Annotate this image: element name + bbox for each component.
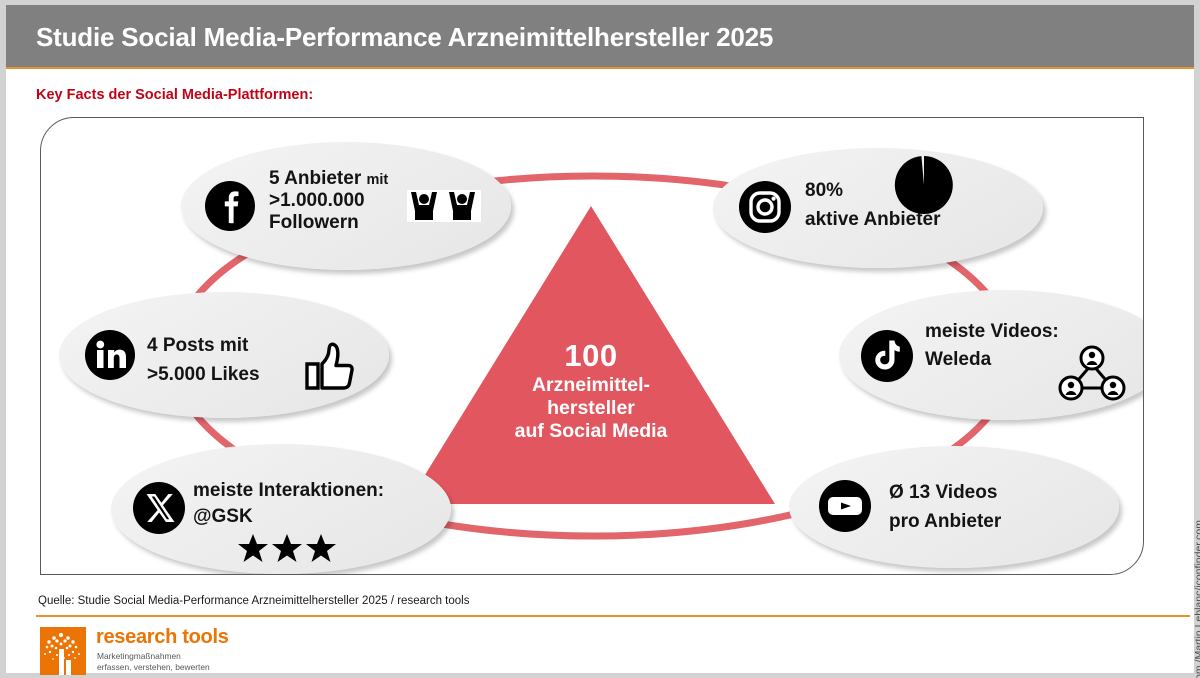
- source-line: Quelle: Studie Social Media-Performance …: [38, 595, 469, 607]
- linkedin-line-2: >5.000 Likes: [147, 361, 260, 390]
- logo-tagline-1: Marketingmaßnahmen: [97, 651, 181, 661]
- bubble-x[interactable]: meiste Interaktionen: @GSK: [111, 444, 451, 574]
- section-subtitle: Key Facts der Social Media-Plattformen:: [36, 87, 313, 103]
- tiktok-line-2: Weleda: [925, 346, 1059, 374]
- bubble-youtube-text: Ø 13 Videos pro Anbieter: [889, 479, 1001, 536]
- image-credit: ©rawpixel.com auf freepik.com /Martin Le…: [1193, 520, 1200, 678]
- bubble-linkedin-text: 4 Posts mit >5.000 Likes: [147, 332, 260, 389]
- bubble-x-text: meiste Interaktionen: @GSK: [193, 478, 384, 530]
- tiktok-line-1: meiste Videos:: [925, 318, 1059, 346]
- thumbs-up-icon: [303, 340, 357, 397]
- youtube-line-1: Ø 13 Videos: [889, 479, 1001, 508]
- youtube-line-2: pro Anbieter: [889, 508, 1001, 537]
- linkedin-line-1: 4 Posts mit: [147, 332, 260, 361]
- bubble-youtube[interactable]: Ø 13 Videos pro Anbieter: [789, 446, 1119, 568]
- linkedin-icon: [85, 330, 135, 385]
- instagram-icon: [739, 181, 791, 238]
- bubble-linkedin[interactable]: 4 Posts mit >5.000 Likes: [59, 292, 389, 418]
- tree-logo-icon: [40, 627, 86, 675]
- x-line-1: meiste Interaktionen:: [193, 478, 384, 504]
- footer-divider: [36, 615, 1190, 617]
- logo-wordmark: research tools: [96, 626, 229, 649]
- diagram-frame: 100 Arzneimittel- hersteller auf Social …: [40, 117, 1144, 575]
- page-title: Studie Social Media-Performance Arzneimi…: [36, 22, 773, 53]
- three-stars-icon: [237, 532, 337, 569]
- bubble-tiktok-text: meiste Videos: Weleda: [925, 318, 1059, 373]
- facebook-line-1-small: mit: [367, 172, 389, 188]
- research-tools-logo: research tools Marketingmaßnahmen erfass…: [40, 625, 290, 677]
- logo-tagline-2: erfassen, verstehen, bewerten: [97, 662, 210, 672]
- facebook-line-2: >1.000.000: [269, 190, 388, 212]
- infographic-page: Studie Social Media-Performance Arzneimi…: [0, 0, 1200, 678]
- bubble-facebook[interactable]: 5 Anbieter mit >1.000.000 Followern: [181, 142, 511, 270]
- facebook-line-1: 5 Anbieter: [269, 168, 361, 189]
- bubble-facebook-text: 5 Anbieter mit >1.000.000 Followern: [269, 168, 388, 234]
- facebook-line-3: Followern: [269, 212, 388, 234]
- facebook-icon: [205, 181, 255, 236]
- header-bar: Studie Social Media-Performance Arzneimi…: [6, 5, 1194, 69]
- youtube-icon: [819, 480, 871, 537]
- network-share-icon: [1057, 342, 1127, 409]
- bubble-instagram[interactable]: 80% aktive Anbieter: [713, 148, 1043, 268]
- x-line-2: @GSK: [193, 504, 384, 530]
- tiktok-icon: [861, 330, 913, 387]
- people-raising-arms-icon: [407, 190, 481, 227]
- pie-chart-icon: [893, 154, 955, 221]
- x-twitter-icon: [133, 482, 185, 539]
